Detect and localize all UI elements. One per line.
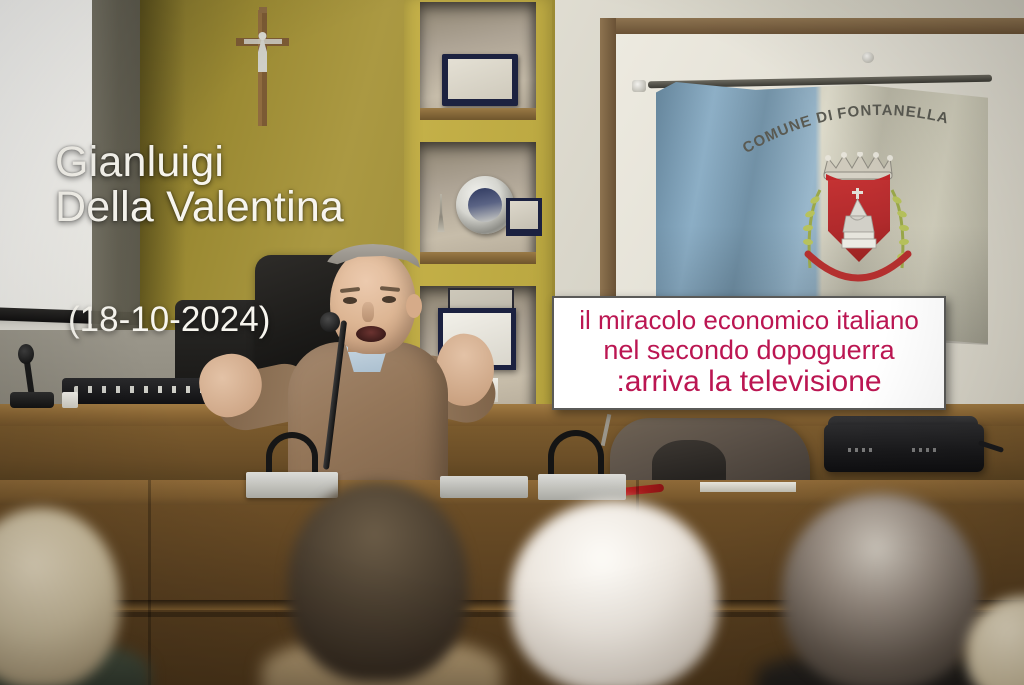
desk-microphone-head <box>18 344 34 364</box>
shelf-ledge <box>420 108 536 120</box>
desk-panel-seam-1 <box>148 480 151 685</box>
caption-line-1: il miracolo economico italiano <box>579 306 919 335</box>
bell-object <box>436 194 446 232</box>
crest-ribbon <box>804 248 912 292</box>
laptop-bag-detail-right <box>912 448 936 452</box>
caption-line-2: nel secondo dopoguerra <box>603 335 894 365</box>
caption-box: il miracolo economico italiano nel secon… <box>552 296 946 410</box>
wall-hook-right-icon <box>862 52 874 63</box>
event-date: (18-10-2024) <box>68 300 270 340</box>
flag-text-fontanella: FONTANELLA <box>836 102 951 128</box>
speaker-nose <box>362 302 374 322</box>
mic-base-left <box>246 472 338 498</box>
speaker-name-block: Gianluigi Della Valentina <box>55 140 344 230</box>
speaker-mouth <box>356 326 386 342</box>
shelf-niche-middle <box>420 142 536 264</box>
audience-head-2 <box>288 482 468 682</box>
papers-on-desk <box>700 482 796 492</box>
flag-text-comune-di: COMUNE DI <box>740 107 835 157</box>
framed-certificate-plaque <box>442 54 518 106</box>
speaker-ear <box>406 294 422 318</box>
speaker-name-line-2: Della Valentina <box>55 185 344 230</box>
alcove-trim-left <box>600 18 616 318</box>
speaker-name-line-1: Gianluigi <box>55 140 344 185</box>
audience-head-4 <box>782 494 980 685</box>
speaker-microphone-head <box>320 312 340 332</box>
mic-base-center <box>440 476 528 498</box>
framed-plaque-small <box>506 198 542 236</box>
alcove-trim-top <box>600 18 1024 34</box>
speaker-eye-right <box>382 296 396 303</box>
crucifix-icon <box>228 6 298 130</box>
speaker-eye-left <box>343 297 357 304</box>
caption-line-3: :arriva la televisione <box>616 365 881 399</box>
photo-slide: COMUNE DI FONTANELLA <box>0 0 1024 685</box>
cup-object <box>62 392 78 408</box>
laptop-bag-detail-left <box>848 448 872 452</box>
wall-hook-left-icon <box>632 80 646 92</box>
crest-fountain-icon <box>840 188 878 254</box>
audience-head-3 <box>510 500 718 685</box>
mic-base-right <box>538 474 626 500</box>
shelf-niche-top <box>420 2 536 120</box>
desk-microphone-base <box>10 392 54 408</box>
